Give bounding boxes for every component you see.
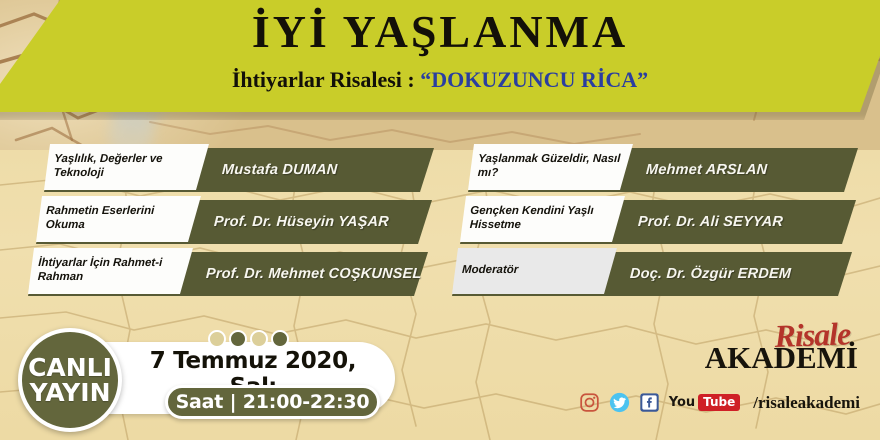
social-handle: /risaleakademi [753, 393, 860, 413]
live-label-line1: CANLI [28, 355, 112, 381]
poster-subtitle: İhtiyarlar Risalesi : “DOKUZUNCU RİCA” [0, 67, 880, 93]
social-links: You Tube /risaleakademi [579, 392, 860, 413]
session-topic-label: Yaşlanmak Güzeldir, Nasıl mı? [468, 144, 633, 190]
session-speaker-name: Prof. Dr. Hüseyin YAŞAR [213, 200, 390, 244]
dot-4-icon [271, 330, 289, 348]
instagram-icon[interactable] [579, 392, 600, 413]
session-topic-text: Yaşlanmak Güzeldir, Nasıl mı? [478, 153, 628, 180]
live-broadcast-badge: CANLI YAYIN [18, 328, 122, 432]
session-row-moderator[interactable]: Moderatör Doç. Dr. Özgür ERDEM [452, 252, 852, 296]
youtube-logo[interactable]: You Tube [669, 394, 741, 411]
subtitle-prefix: İhtiyarlar Risalesi : [232, 67, 420, 92]
brand-script-text: Risale [696, 317, 850, 354]
poster-root: İYİ YAŞLANMA İhtiyarlar Risalesi : “DOKU… [0, 0, 880, 440]
decorative-dots [208, 330, 289, 348]
moderator-name: Doç. Dr. Özgür ERDEM [629, 252, 792, 296]
session-topic-label: Yaşlılık, Değerler ve Teknoloji [44, 144, 209, 190]
poster-title: İYİ YAŞLANMA [0, 8, 880, 56]
session-topic-text: Rahmetin Eserlerini Okuma [46, 205, 196, 232]
session-topic-label: İhtiyarlar İçin Rahmet-i Rahman [28, 248, 193, 294]
session-speaker-name: Prof. Dr. Ali SEYYAR [637, 200, 784, 244]
poster-footer: 7 Temmuz 2020, Salı Saat | 21:00-22:30 C… [0, 300, 880, 440]
moderator-label-text: Moderatör [462, 264, 519, 278]
facebook-icon[interactable] [639, 392, 660, 413]
brand-logo: Risale AKADEMİ [705, 320, 858, 373]
event-time-text: Saat | 21:00-22:30 [176, 391, 370, 413]
live-label-line2: YAYIN [30, 380, 111, 406]
session-speaker-name: Prof. Dr. Mehmet COŞKUNSEL [205, 252, 423, 296]
session-row[interactable]: Gençken Kendini Yaşlı Hissetme Prof. Dr.… [460, 200, 856, 244]
session-list: Yaşlılık, Değerler ve Teknoloji Mustafa … [0, 140, 880, 300]
session-speaker-name: Mehmet ARSLAN [645, 148, 769, 192]
session-row[interactable]: Yaşlanmak Güzeldir, Nasıl mı? Mehmet ARS… [468, 148, 858, 192]
session-topic-label: Rahmetin Eserlerini Okuma [36, 196, 201, 242]
session-topic-text: İhtiyarlar İçin Rahmet-i Rahman [38, 257, 188, 284]
dot-2-icon [229, 330, 247, 348]
subtitle-topic: “DOKUZUNCU RİCA” [420, 67, 648, 92]
session-row[interactable]: Yaşlılık, Değerler ve Teknoloji Mustafa … [44, 148, 434, 192]
session-topic-text: Yaşlılık, Değerler ve Teknoloji [54, 153, 204, 180]
youtube-you-text: You [669, 395, 695, 410]
session-row[interactable]: İhtiyarlar İçin Rahmet-i Rahman Prof. Dr… [28, 252, 428, 296]
session-speaker-name: Mustafa DUMAN [221, 148, 339, 192]
twitter-icon[interactable] [609, 392, 630, 413]
moderator-label: Moderatör [452, 248, 617, 294]
session-topic-label: Gençken Kendini Yaşlı Hissetme [460, 196, 625, 242]
dot-1-icon [208, 330, 226, 348]
dot-3-icon [250, 330, 268, 348]
youtube-tube-badge: Tube [698, 394, 740, 411]
event-time-badge: Saat | 21:00-22:30 [165, 385, 380, 419]
session-row[interactable]: Rahmetin Eserlerini Okuma Prof. Dr. Hüse… [36, 200, 432, 244]
session-topic-text: Gençken Kendini Yaşlı Hissetme [470, 205, 620, 232]
